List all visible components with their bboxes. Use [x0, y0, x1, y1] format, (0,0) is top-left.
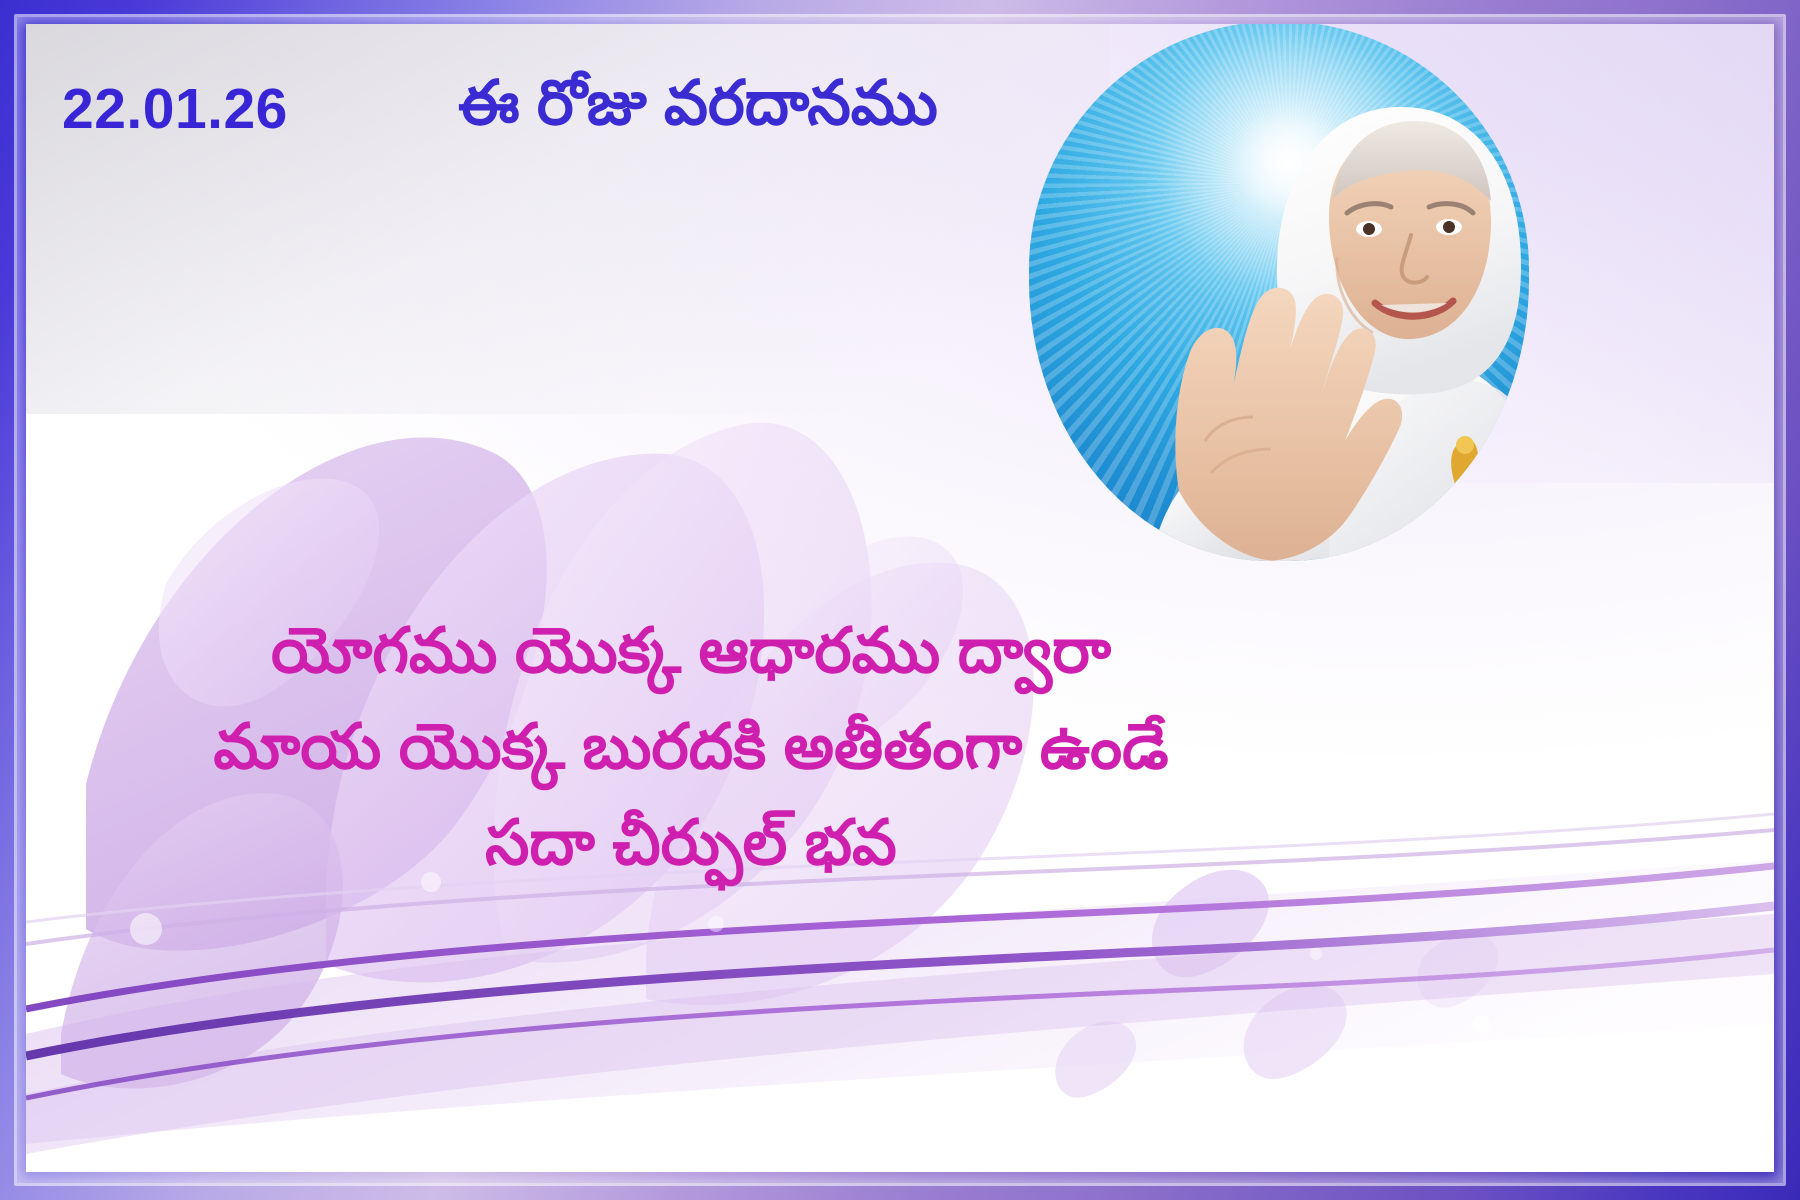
date-label: 22.01.26	[62, 76, 288, 142]
page-title: ఈ రోజు వరదానము	[458, 68, 938, 154]
blessing-line-2: మాయ యొక్క బురదకి అతీతంగా ఉండే	[26, 700, 1356, 796]
portrait-figure-illustration	[1029, 24, 1529, 561]
blessing-card: 22.01.26 ఈ రోజు వరదానము యోగము యొక్క ఆధార…	[0, 0, 1800, 1200]
card-face: 22.01.26 ఈ రోజు వరదానము యోగము యొక్క ఆధార…	[26, 24, 1774, 1172]
blessing-line-1: యోగము యొక్క ఆధారము ద్వారా	[26, 604, 1356, 700]
portrait-photo	[1029, 24, 1529, 561]
blessing-text: యోగము యొక్క ఆధారము ద్వారా మాయ యొక్క బురద…	[26, 604, 1356, 891]
blessing-line-3: సదా చీర్ఫుల్ భవ	[26, 796, 1356, 892]
